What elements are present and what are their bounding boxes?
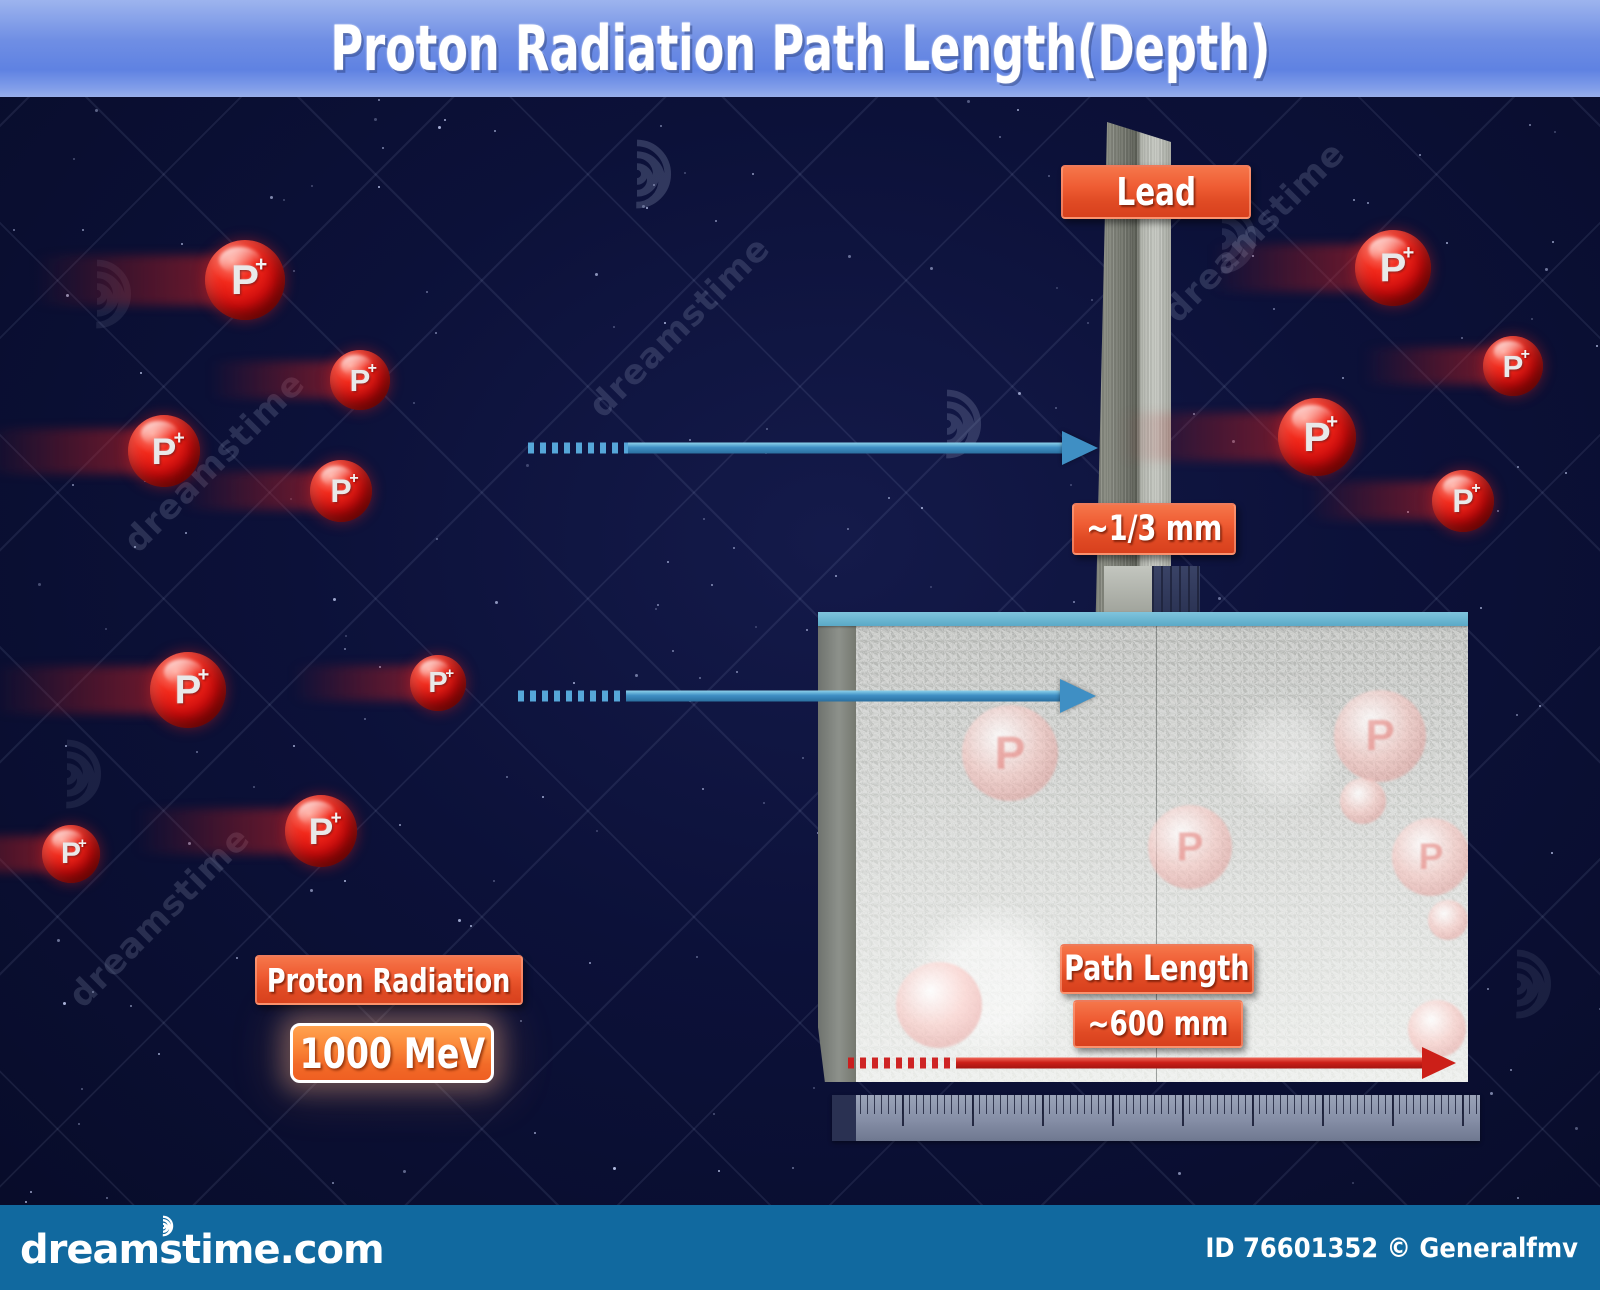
proton-particle: P+ [1355, 230, 1431, 306]
arrow-head-icon [1422, 1047, 1456, 1079]
proton-symbol: P+ [428, 669, 447, 698]
proton-charge-sign: + [1326, 412, 1338, 432]
label-path-length-value: ~600 mm [1073, 1000, 1243, 1048]
proton-symbol: P+ [231, 259, 259, 301]
proton-symbol: P+ [175, 670, 202, 710]
arrow-line [956, 1058, 1426, 1069]
proton-sphere: P+ [1278, 398, 1356, 476]
path-length-arrow [848, 1053, 1460, 1073]
proton-particle: P+ [410, 655, 466, 711]
proton-charge-sign: + [1403, 243, 1415, 263]
label-energy: 1000 MeV [290, 1023, 494, 1083]
proton-charge-sign: + [78, 836, 87, 851]
illustration-canvas: Proton Radiation Path Length(Depth) drea… [0, 0, 1600, 1290]
proton-particles-layer: P+P+P+P+P+P+P+P+P+P+P+P+ [0, 0, 1600, 1290]
proton-charge-sign: + [174, 429, 185, 448]
label-lead-thickness: ~1/3 mm [1072, 503, 1236, 555]
label-lead: Lead [1061, 165, 1251, 219]
image-credit: ID 76601352 © Generalfmv [1205, 1233, 1578, 1264]
proton-particle: P+ [42, 825, 100, 883]
arrow-dash-segment [848, 1058, 956, 1069]
proton-symbol: P+ [1503, 351, 1524, 382]
dreamstime-spiral-icon [152, 1215, 174, 1237]
proton-sphere: P+ [205, 240, 285, 320]
proton-particle: P+ [1278, 398, 1356, 476]
proton-particle: P+ [1483, 336, 1543, 396]
proton-charge-sign: + [349, 471, 358, 487]
footer-bar: dreamstime.com ID 76601352 © Generalfmv [0, 1205, 1600, 1290]
proton-sphere: P+ [42, 825, 100, 883]
proton-symbol: P+ [330, 475, 351, 507]
proton-beam-arrow-concrete [518, 686, 1098, 706]
proton-symbol: P+ [1303, 417, 1330, 458]
proton-sphere: P+ [410, 655, 466, 711]
proton-charge-sign: + [1521, 347, 1530, 363]
label-lead-text: Lead [1116, 170, 1196, 214]
proton-charge-sign: + [368, 361, 377, 377]
proton-beam-arrow-lead [528, 438, 1098, 458]
arrow-dash-segment [518, 691, 626, 702]
arrow-dash-segment [528, 443, 628, 454]
label-path-length: Path Length [1060, 944, 1254, 994]
proton-sphere: P+ [310, 460, 372, 522]
proton-charge-sign: + [331, 809, 342, 828]
proton-symbol: P+ [61, 839, 81, 869]
arrow-line [628, 443, 1066, 454]
label-proton-radiation: Proton Radiation [255, 955, 523, 1005]
label-proton-radiation-text: Proton Radiation [267, 961, 510, 1000]
arrow-line [626, 691, 1064, 702]
proton-symbol: P+ [152, 433, 177, 470]
dreamstime-logo: dreamstime.com [20, 1227, 384, 1273]
proton-sphere: P+ [150, 652, 226, 728]
proton-sphere: P+ [1432, 470, 1494, 532]
proton-charge-sign: + [255, 254, 267, 275]
proton-symbol: P+ [309, 813, 334, 850]
proton-symbol: P+ [1380, 248, 1407, 288]
proton-particle: P+ [1432, 470, 1494, 532]
proton-particle: P+ [310, 460, 372, 522]
proton-charge-sign: + [198, 665, 210, 685]
proton-symbol: P+ [350, 365, 371, 396]
proton-particle: P+ [150, 652, 226, 728]
proton-sphere: P+ [1483, 336, 1543, 396]
proton-charge-sign: + [1471, 481, 1480, 497]
proton-particle: P+ [205, 240, 285, 320]
label-path-length-value-text: ~600 mm [1088, 1004, 1229, 1044]
proton-particle: P+ [285, 795, 357, 867]
proton-particle: P+ [330, 350, 390, 410]
proton-sphere: P+ [285, 795, 357, 867]
proton-charge-sign: + [445, 666, 454, 681]
proton-sphere: P+ [1355, 230, 1431, 306]
proton-symbol: P+ [1452, 485, 1473, 517]
label-path-length-text: Path Length [1064, 949, 1249, 989]
proton-sphere: P+ [330, 350, 390, 410]
arrow-head-icon [1060, 679, 1096, 713]
label-energy-text: 1000 MeV [299, 1029, 485, 1078]
arrow-head-icon [1062, 431, 1098, 465]
label-lead-thickness-text: ~1/3 mm [1086, 509, 1222, 549]
